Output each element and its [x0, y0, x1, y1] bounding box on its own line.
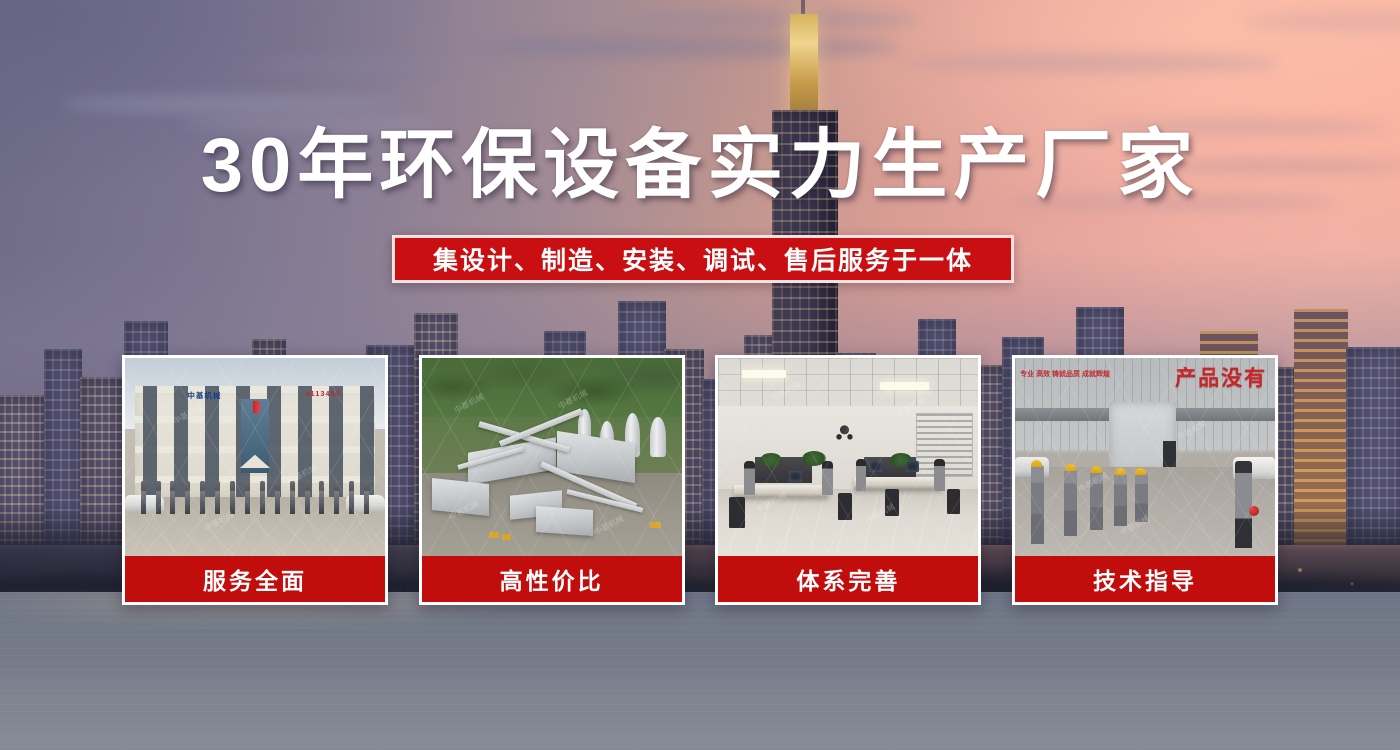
supervisor-figure: [1235, 461, 1252, 548]
card-photo-office-building: 中基机械 4113456 中基机械 中基机械 中基机械: [125, 358, 385, 556]
card-caption-text: 技术指导: [1093, 562, 1197, 596]
feature-card-value[interactable]: 中基机械 中基机械 中基机械 中基机械 高性价比: [419, 355, 685, 605]
subtitle-banner: 集设计、制造、安装、调试、售后服务于一体: [392, 235, 1014, 283]
card-caption-text: 体系完善: [796, 562, 900, 596]
feature-card-guidance[interactable]: 产品没有 专业 高效 铸就品质 成就辉煌: [1012, 355, 1278, 605]
page-title: 30年环保设备实力生产厂家: [0, 128, 1400, 204]
promotional-banner: 30年环保设备实力生产厂家 集设计、制造、安装、调试、售后服务于一体 中基机械: [0, 0, 1400, 750]
card-photo-industrial-plant: 中基机械 中基机械 中基机械 中基机械: [422, 358, 682, 556]
flag-icon: [253, 401, 260, 413]
card-photo-office-interior: 中基机械 中基机械 中基机械 中基机械: [718, 358, 978, 556]
factory-wall-text: 产品没有: [1175, 362, 1267, 392]
card-caption-text: 服务全面: [203, 562, 307, 596]
building-sign-text: 中基机械: [187, 390, 221, 401]
card-caption-system: 体系完善: [718, 556, 978, 602]
water-reflections: [0, 592, 1400, 750]
card-caption-service: 服务全面: [125, 556, 385, 602]
feature-card-row: 中基机械 4113456 中基机械 中基机械 中基机械 服务: [122, 355, 1278, 605]
feature-card-system[interactable]: 中基机械 中基机械 中基机械 中基机械 体系完善: [715, 355, 981, 605]
card-caption-text: 高性价比: [500, 562, 604, 596]
card-caption-value: 高性价比: [422, 556, 682, 602]
card-caption-guidance: 技术指导: [1015, 556, 1275, 602]
wall-decal: [825, 417, 864, 449]
subtitle-text: 集设计、制造、安装、调试、售后服务于一体: [433, 241, 973, 277]
building-phone-text: 4113456: [306, 391, 341, 398]
staff-row: [141, 481, 370, 515]
feature-card-service[interactable]: 中基机械 4113456 中基机械 中基机械 中基机械 服务: [122, 355, 388, 605]
card-photo-worker-briefing: 产品没有 专业 高效 铸就品质 成就辉煌: [1015, 358, 1275, 556]
factory-wall-slogan: 专业 高效 铸就品质 成就辉煌: [1020, 370, 1110, 381]
